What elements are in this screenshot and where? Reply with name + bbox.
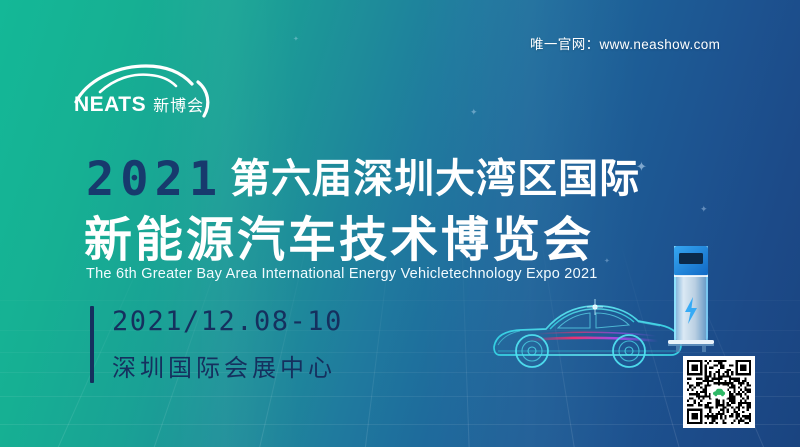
- sparkle-icon: ✦: [293, 36, 299, 43]
- promo-banner: ✦ ✦ ✦ ✦ ✦ ✦ 唯一官网：www.neashow.com NEATS新博…: [0, 0, 800, 447]
- logo-wordmark: NEATS新博会: [74, 92, 204, 117]
- official-website-label: 唯一官网：www.neashow.com: [530, 33, 720, 53]
- title-year: 2021: [86, 152, 223, 207]
- logo-name: NEATS: [74, 93, 146, 116]
- title-line-2: 新能源汽车技术博览会: [84, 200, 594, 270]
- logo-name-cn: 新博会: [153, 98, 204, 115]
- event-date: 2021/12.08-10: [112, 306, 343, 337]
- wireframe-car-icon: [488, 285, 688, 385]
- title-subtitle-en: The 6th Greater Bay Area International E…: [86, 266, 598, 282]
- ev-charging-pile-icon: [662, 240, 720, 355]
- sparkle-icon: ✦: [470, 108, 478, 117]
- page-title: 2021第六届深圳大湾区国际: [86, 146, 640, 207]
- sparkle-icon: ✦: [700, 205, 708, 214]
- green-car-icon: [711, 386, 728, 399]
- qr-code[interactable]: [683, 356, 755, 428]
- accent-bar: [90, 306, 94, 383]
- event-details: 2021/12.08-10 深圳国际会展中心: [90, 306, 343, 383]
- sparkle-icon: ✦: [604, 258, 610, 265]
- neats-logo: NEATS新博会: [70, 62, 220, 130]
- title-line-1: 第六届深圳大湾区国际: [230, 157, 640, 201]
- event-venue: 深圳国际会展中心: [112, 348, 343, 383]
